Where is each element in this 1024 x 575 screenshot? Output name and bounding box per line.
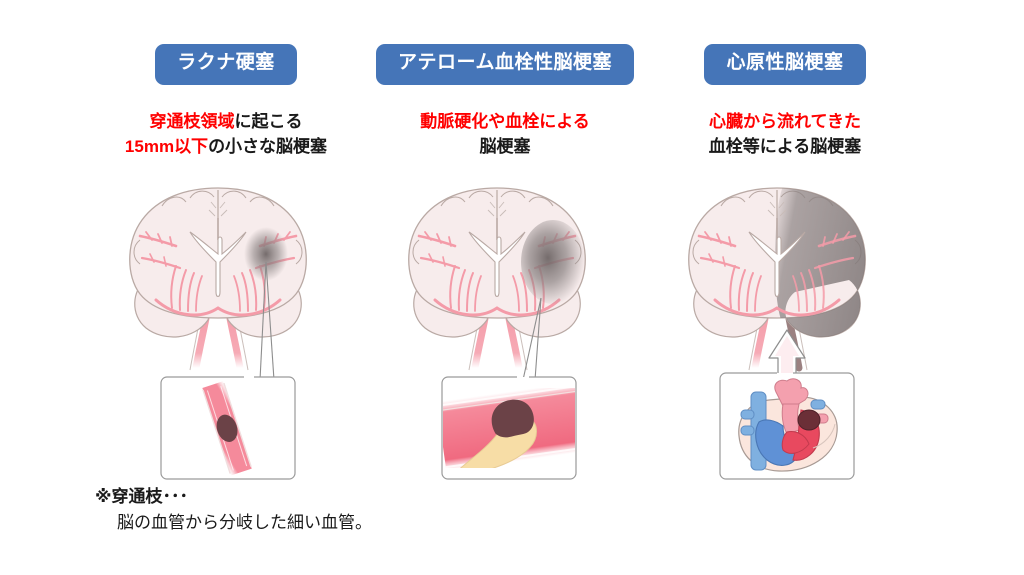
infarct-region-small <box>244 227 288 281</box>
caption-black-1: に起こる <box>235 112 303 131</box>
caption-black-2: の小さな脳梗塞 <box>208 137 327 156</box>
inset-box-lacunar <box>158 374 298 482</box>
caption-line-1: 動脈硬化や血栓による <box>345 110 665 135</box>
brain-coronal-svg-cardio <box>675 180 895 380</box>
inset-small-vessel-occlusion-svg <box>158 374 298 482</box>
caption-line-1: 穿通枝領域に起こる <box>66 110 386 135</box>
caption-line-2: 血栓等による脳梗塞 <box>625 135 945 160</box>
brain-illustration-atherothrombotic <box>345 180 665 380</box>
footnote-body: 脳の血管から分岐した細い血管。 <box>95 510 615 536</box>
caption-red-1: 動脈硬化や血栓による <box>420 112 590 131</box>
brain-coronal-svg-lacunar <box>116 180 336 380</box>
header-pill-wrap-cardio: 心原性脳梗塞 <box>625 44 945 85</box>
aortic-branch <box>811 400 825 409</box>
column-atherothrombotic: アテローム血栓性脳梗塞 動脈硬化や血栓による 脳梗塞 <box>345 0 665 500</box>
footnote-title: ※穿通枝･･･ <box>95 484 615 510</box>
vena-branch-1 <box>741 410 754 419</box>
footnote: ※穿通枝･･･ 脳の血管から分岐した細い血管。 <box>95 484 615 535</box>
caption-black-2: 脳梗塞 <box>480 137 531 156</box>
caption-red-1: 心臓から流れてきた <box>709 112 861 131</box>
caption-black-2: 血栓等による脳梗塞 <box>709 137 862 156</box>
header-pill-wrap-lacunar: ラクナ硬塞 <box>66 44 386 85</box>
header-pill-atherothrombotic[interactable]: アテローム血栓性脳梗塞 <box>376 44 634 85</box>
inset-heart-with-thrombus-svg <box>717 370 857 482</box>
caption-red-1: 穿通枝領域 <box>150 112 235 131</box>
caption-line-1: 心臓から流れてきた <box>625 110 945 135</box>
column-cardioembolic: 心原性脳梗塞 心臓から流れてきた 血栓等による脳梗塞 <box>625 0 945 500</box>
slide-canvas: ラクナ硬塞 穿通枝領域に起こる 15mm以下の小さな脳梗塞 <box>0 0 1024 575</box>
vena-branch-2 <box>741 426 754 435</box>
brain-illustration-cardioembolic <box>625 180 945 380</box>
infarct-region-medium <box>521 220 585 304</box>
header-pill-wrap-athero: アテローム血栓性脳梗塞 <box>345 44 665 85</box>
pulmonary-trunk <box>782 404 799 434</box>
brain-illustration-lacunar <box>66 180 386 380</box>
brain-coronal-svg-athero <box>395 180 615 380</box>
header-pill-lacunar[interactable]: ラクナ硬塞 <box>155 44 297 85</box>
caption-red-2: 15mm以下 <box>125 137 208 156</box>
caption-line-2: 15mm以下の小さな脳梗塞 <box>66 135 386 160</box>
infarct-region-large <box>775 186 875 346</box>
inset-box-heart <box>717 370 857 482</box>
caption-atherothrombotic: 動脈硬化や血栓による 脳梗塞 <box>345 110 665 159</box>
caption-cardioembolic: 心臓から流れてきた 血栓等による脳梗塞 <box>625 110 945 159</box>
caption-line-2: 脳梗塞 <box>345 135 665 160</box>
column-lacunar: ラクナ硬塞 穿通枝領域に起こる 15mm以下の小さな脳梗塞 <box>66 0 386 500</box>
inset-atherosclerotic-plaque-svg <box>439 374 579 482</box>
intracardiac-thrombus <box>798 410 820 430</box>
caption-lacunar: 穿通枝領域に起こる 15mm以下の小さな脳梗塞 <box>66 110 386 159</box>
header-pill-cardioembolic[interactable]: 心原性脳梗塞 <box>704 44 865 85</box>
inset-box-athero <box>439 374 579 482</box>
